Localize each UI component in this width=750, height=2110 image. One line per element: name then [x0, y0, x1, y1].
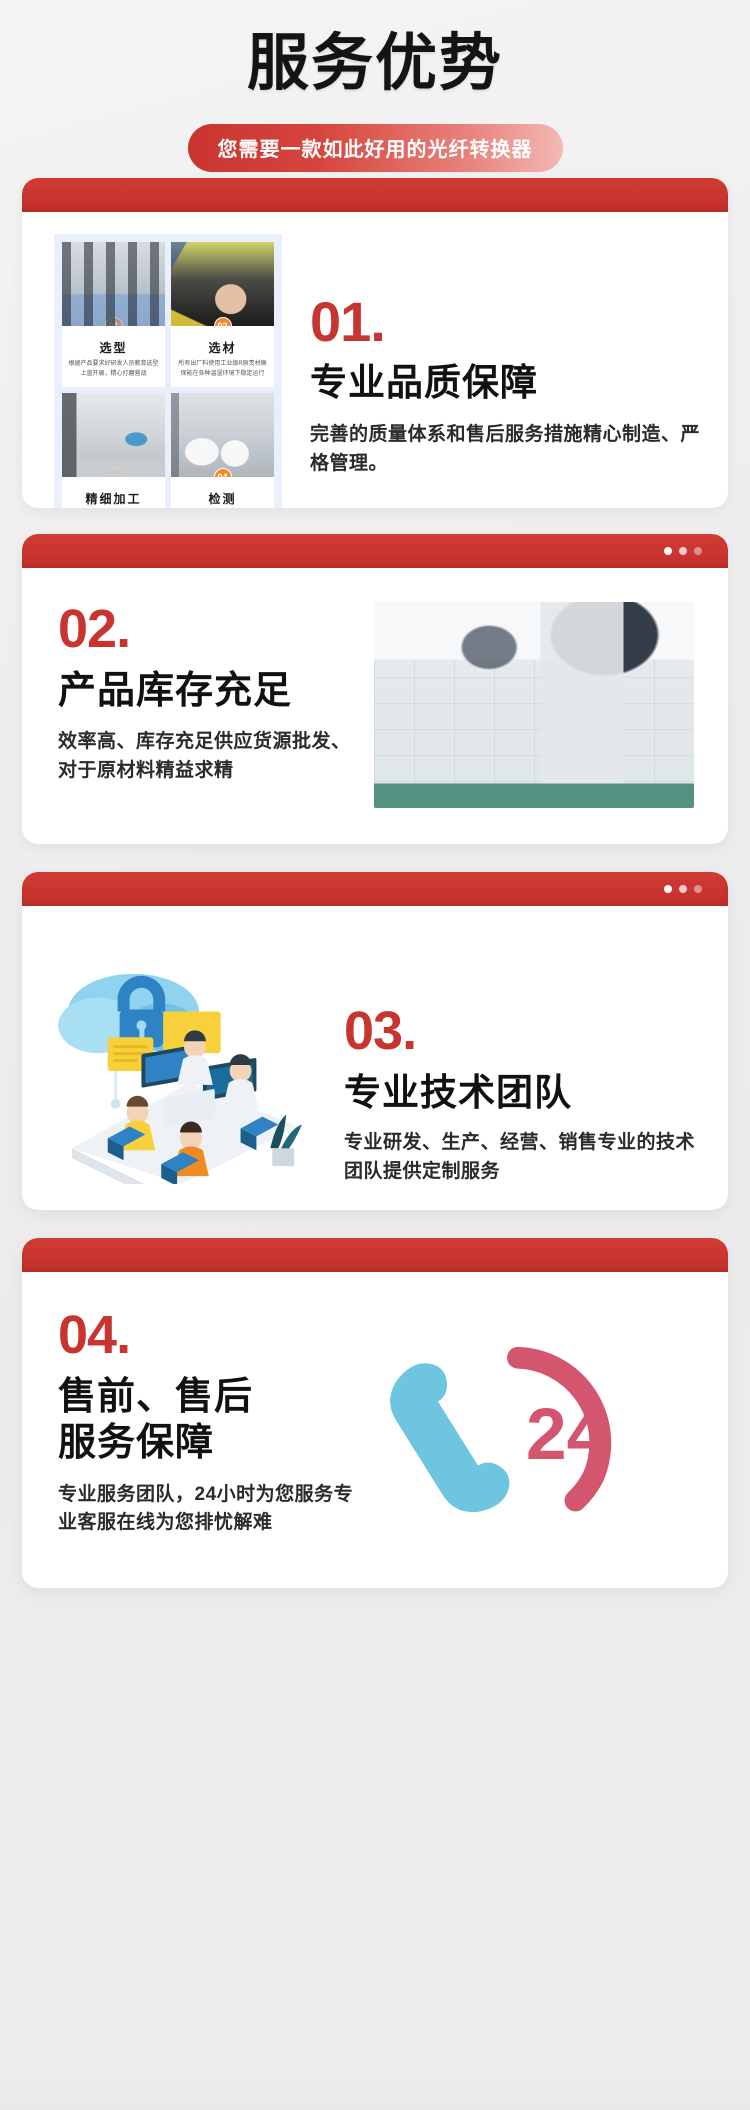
process-title: 选材 — [171, 326, 274, 356]
subtitle-badge-wrap: 您需要一款如此好用的光纤转换器 — [0, 124, 750, 172]
card-2-text-block: 02. 产品库存充足 效率高、库存充足供应货源批发、对于原材料精益求精 — [58, 602, 358, 808]
subtitle-badge: 您需要一款如此好用的光纤转换器 — [188, 124, 563, 172]
process-title: 精细加工 — [62, 477, 165, 507]
card-4-caption: 售前、售后 服务保障 — [58, 1374, 368, 1467]
process-text: 根据产品要求好研发人员教育选型上直开展，精心打磨营战 — [62, 356, 165, 387]
card-3-caption: 专业技术团队 — [344, 1070, 700, 1115]
card-2-description: 效率高、库存充足供应货源批发、对于原材料精益求精 — [58, 728, 358, 785]
support-hours-label: 24 — [526, 1393, 608, 1475]
card-2-caption: 产品库存充足 — [58, 668, 358, 714]
process-image-grid: 01 选型 根据产品要求好研发人员教育选型上直开展，精心打磨营战 02 选材 所… — [54, 234, 282, 508]
page-title: 服务优势 — [0, 30, 750, 98]
card-1-number: 01. — [310, 294, 708, 350]
advantage-card-1: 01 选型 根据产品要求好研发人员教育选型上直开展，精心打磨营战 02 选材 所… — [22, 178, 728, 508]
process-badge: 02 — [214, 317, 232, 326]
process-text: 确保产品顺数自制能化、寻代生产机器加工流程、产品性能坚称，一样付好 — [62, 507, 165, 508]
process-text: 所有出厂料使用工业级R原责材确保能在各种温湿环境下稳定运行 — [171, 356, 274, 387]
card-3-number: 03. — [344, 1004, 700, 1058]
process-cell: 01 选型 根据产品要求好研发人员教育选型上直开展，精心打磨营战 — [62, 242, 165, 387]
process-cell: 02 选材 所有出厂料使用工业级R原责材确保能在各种温湿环境下稳定运行 — [171, 242, 274, 387]
card-1-text-block: 01. 专业品质保障 完善的质量体系和售后服务措施精心制造、严格管理。 — [282, 234, 708, 508]
process-badge: 03 — [105, 468, 123, 477]
window-dots-icon — [664, 885, 702, 893]
card-1-description: 完善的质量体系和售后服务措施精心制造、严格管理。 — [310, 421, 708, 478]
window-dots-icon — [664, 547, 702, 555]
dot-icon — [694, 547, 702, 555]
process-badge: 01 — [105, 317, 123, 326]
card-4-caption-line2: 服务保障 — [58, 1420, 368, 1466]
process-photo-4: 04 — [171, 393, 274, 477]
card-3-description: 专业研发、生产、经营、销售专业的技术团队提供定制服务 — [344, 1129, 700, 1186]
card-4-text-block: 04. 售前、售后 服务保障 专业服务团队，24小时为您服务专业客服在线为您排忧… — [58, 1308, 368, 1558]
process-photo-3: 03 — [62, 393, 165, 477]
support-24h-phone-icon: 24 — [368, 1328, 658, 1558]
dot-icon — [664, 547, 672, 555]
card-4-body: 04. 售前、售后 服务保障 专业服务团队，24小时为您服务专业客服在线为您排忧… — [22, 1272, 728, 1582]
process-title: 选型 — [62, 326, 165, 356]
process-cell: 04 检测 从产品出料能害所试和测试温、再用蓝检15准程等制定让产品稳定可靠 — [171, 393, 274, 508]
card-3-top-bar — [22, 872, 728, 906]
page-header: 服务优势 您需要一款如此好用的光纤转换器 — [0, 0, 750, 172]
process-text: 从产品出料能害所试和测试温、再用蓝检15准程等制定让产品稳定可靠 — [171, 507, 274, 508]
card-1-caption: 专业品质保障 — [310, 360, 708, 405]
card-4-caption-line1: 售前、售后 — [58, 1374, 368, 1420]
advantage-card-2: 02. 产品库存充足 效率高、库存充足供应货源批发、对于原材料精益求精 — [22, 534, 728, 844]
factory-workshop-photo — [374, 602, 694, 808]
process-photo-2: 02 — [171, 242, 274, 326]
card-4-description: 专业服务团队，24小时为您服务专业客服在线为您排忧解难 — [58, 1481, 368, 1538]
card-2-top-bar — [22, 534, 728, 568]
tech-team-illustration — [46, 954, 334, 1184]
dot-icon — [679, 547, 687, 555]
process-photo-1: 01 — [62, 242, 165, 326]
card-4-number: 04. — [58, 1308, 368, 1362]
card-1-body: 01 选型 根据产品要求好研发人员教育选型上直开展，精心打磨营战 02 选材 所… — [22, 212, 728, 508]
dot-icon — [694, 885, 702, 893]
process-title: 检测 — [171, 477, 274, 507]
card-1-top-bar — [22, 178, 728, 212]
card-3-text-block: 03. 专业技术团队 专业研发、生产、经营、销售专业的技术团队提供定制服务 — [334, 932, 700, 1186]
card-2-body: 02. 产品库存充足 效率高、库存充足供应货源批发、对于原材料精益求精 — [22, 568, 728, 832]
advantage-card-3: 03. 专业技术团队 专业研发、生产、经营、销售专业的技术团队提供定制服务 — [22, 872, 728, 1210]
advantage-card-4: 04. 售前、售后 服务保障 专业服务团队，24小时为您服务专业客服在线为您排忧… — [22, 1238, 728, 1588]
card-3-body: 03. 专业技术团队 专业研发、生产、经营、销售专业的技术团队提供定制服务 — [22, 906, 728, 1206]
bottom-fade — [0, 2014, 750, 2110]
product-advantage-page: 服务优势 您需要一款如此好用的光纤转换器 01 选型 根据产品要求好研发人员教育… — [0, 0, 750, 2110]
card-2-number: 02. — [58, 602, 358, 656]
process-badge: 04 — [214, 468, 232, 477]
dot-icon — [679, 885, 687, 893]
card-4-top-bar — [22, 1238, 728, 1272]
dot-icon — [664, 885, 672, 893]
process-cell: 03 精细加工 确保产品顺数自制能化、寻代生产机器加工流程、产品性能坚称，一样付… — [62, 393, 165, 508]
